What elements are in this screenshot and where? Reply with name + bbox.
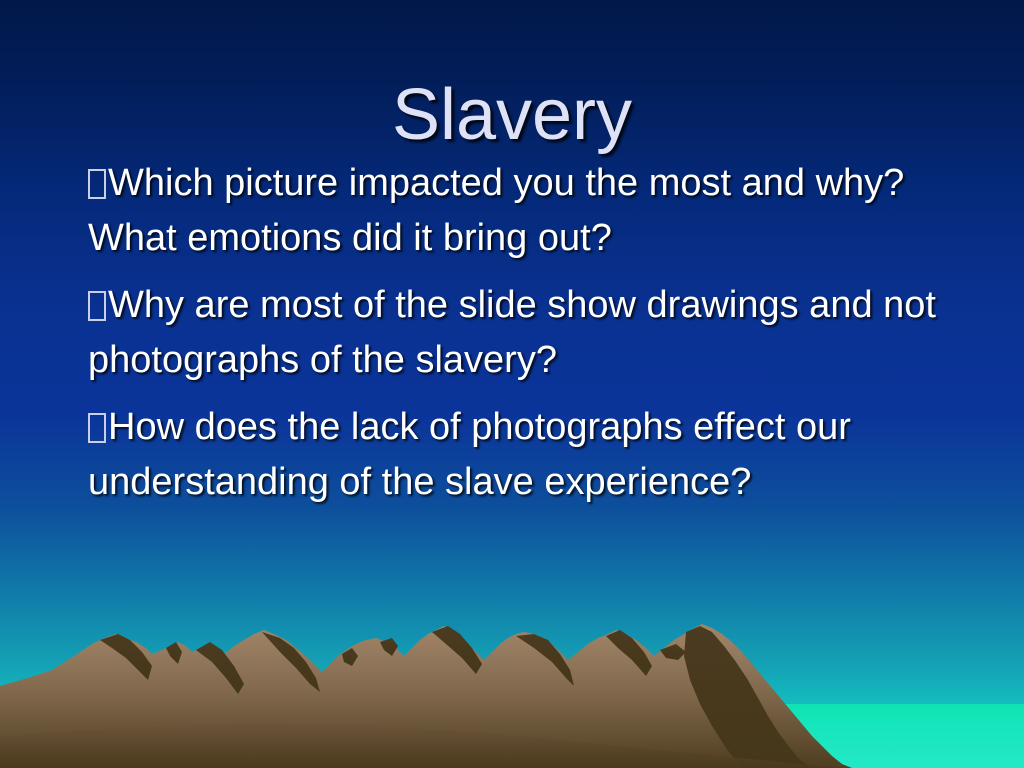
bullet-item: Which picture impacted you the most and … xyxy=(88,156,972,266)
bullet-marker-icon xyxy=(88,169,106,199)
slide-body-content: Which picture impacted you the most and … xyxy=(88,156,972,510)
bullet-item: Why are most of the slide show drawings … xyxy=(88,278,972,388)
bullet-text: How does the lack of photographs effect … xyxy=(88,406,851,503)
bullet-text: Which picture impacted you the most and … xyxy=(88,162,904,259)
mountain-landscape-graphic xyxy=(0,608,1024,768)
bullet-text: Why are most of the slide show drawings … xyxy=(88,284,936,381)
bullet-marker-icon xyxy=(88,413,106,443)
bullet-item: How does the lack of photographs effect … xyxy=(88,400,972,510)
slide-title: Slavery xyxy=(0,78,1024,154)
bullet-marker-icon xyxy=(88,291,106,321)
presentation-slide: Slavery Which picture impacted you the m… xyxy=(0,0,1024,768)
